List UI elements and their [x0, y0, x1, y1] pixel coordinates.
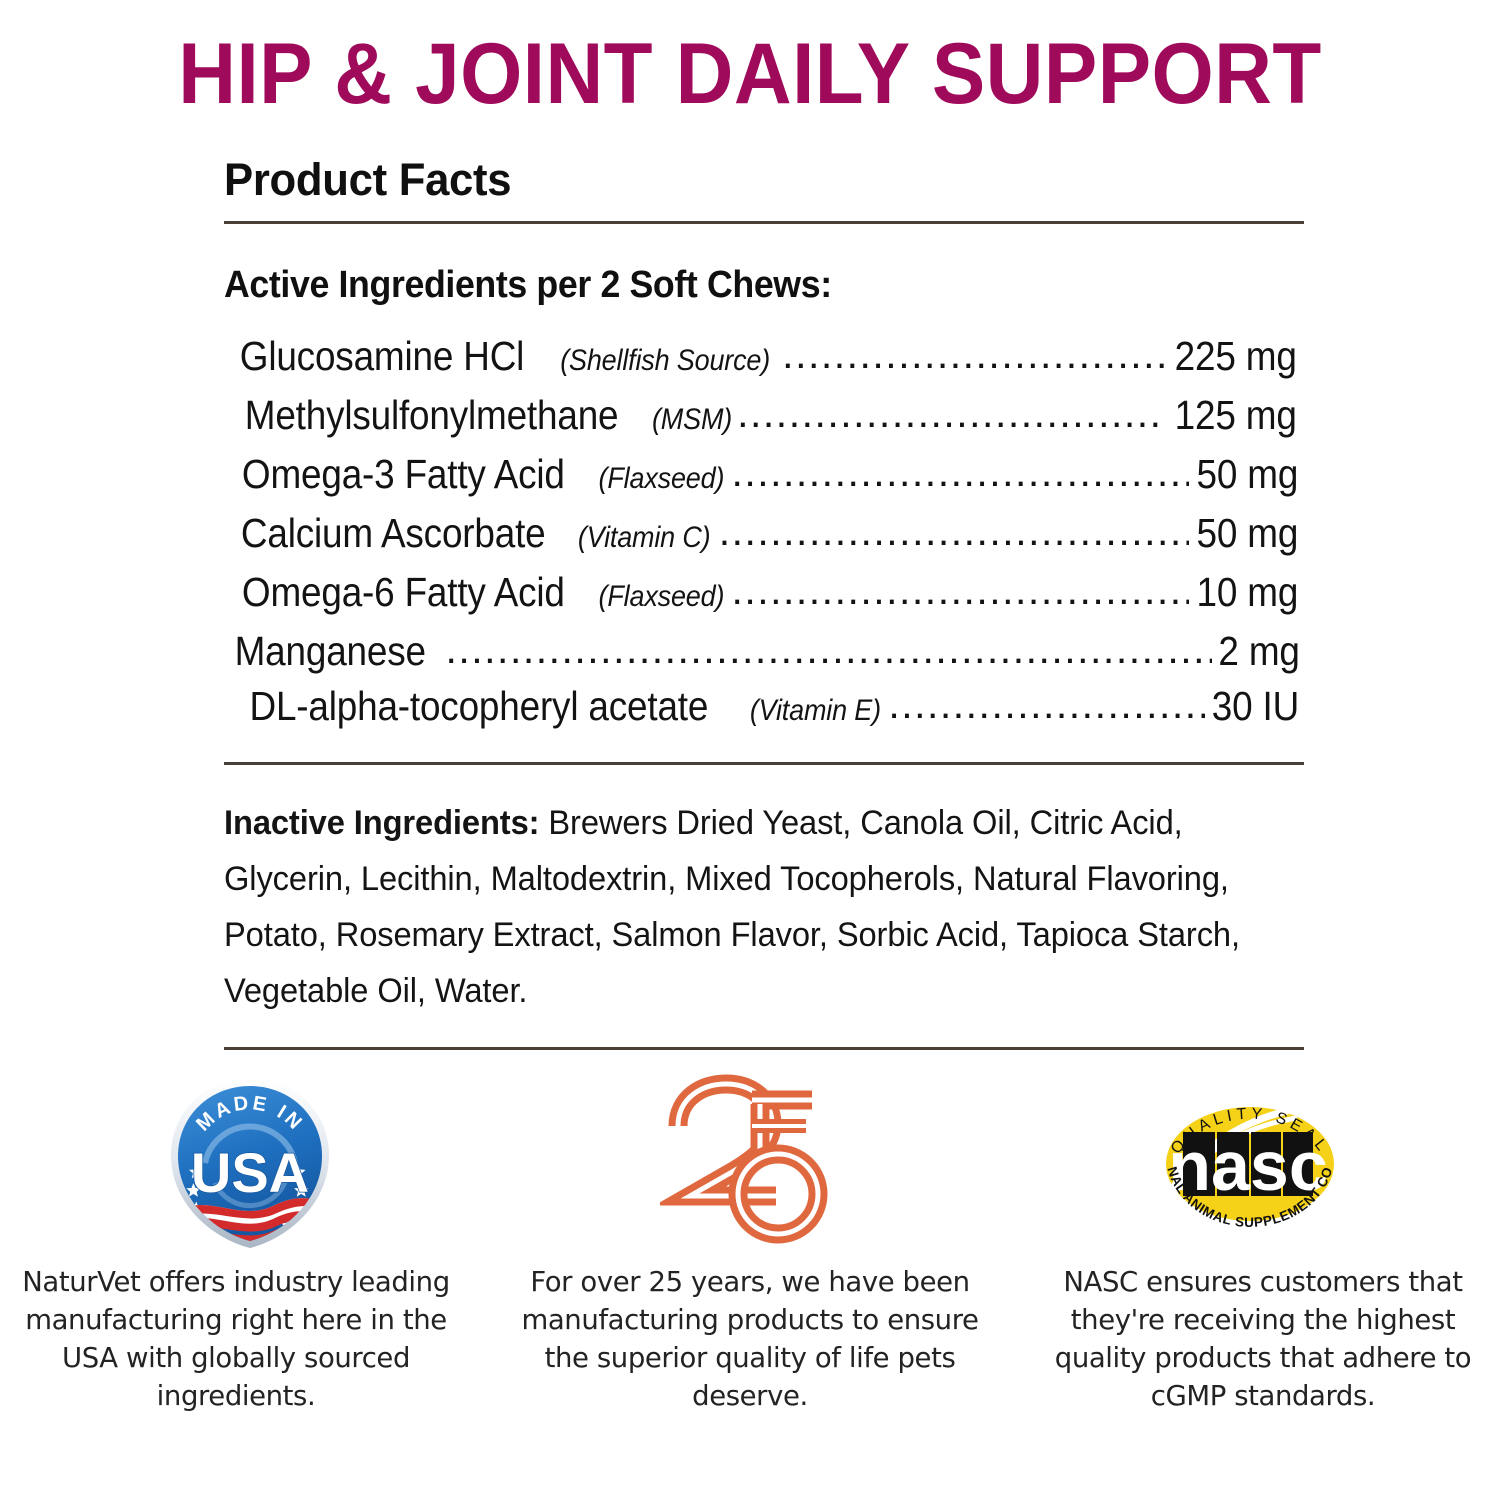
- ingredient-note: (Shellfish Source): [552, 333, 770, 388]
- leader-dots: ........................................…: [737, 388, 1166, 441]
- badges-row: MADE IN: [0, 1074, 1500, 1415]
- ingredient-row: Glucosamine HCl (Shellfish Source) .....…: [224, 329, 1304, 388]
- ingredient-row: Methylsulfonylmethane (MSM) ............…: [224, 388, 1304, 447]
- badge-caption: NASC ensures customers that they're rece…: [1028, 1263, 1498, 1415]
- active-ingredients-heading: Active Ingredients per 2 Soft Chews:: [224, 263, 1239, 307]
- leader-dots: ........................................…: [719, 506, 1189, 559]
- inactive-ingredients-label: Inactive Ingredients:: [224, 804, 539, 842]
- leader-dots: ........................................…: [782, 329, 1166, 382]
- ingredient-note: (Vitamin C): [570, 510, 711, 565]
- ingredient-row: Manganese ..............................…: [224, 624, 1304, 679]
- twenty-five-years-logo-icon: [660, 1074, 840, 1249]
- nasc-quality-seal-icon: nasc QUALITY SEAL NATIONAL ANIMAL SUPPLE…: [1145, 1074, 1355, 1249]
- ingredient-note: (MSM): [644, 392, 732, 447]
- ingredient-name: Calcium Ascorbate: [241, 506, 546, 561]
- ingredient-row: Omega-3 Fatty Acid (Flaxseed) ..........…: [224, 447, 1304, 506]
- ingredient-row: Omega-6 Fatty Acid (Flaxseed) ..........…: [224, 565, 1304, 624]
- leader-dots: ........................................…: [731, 447, 1189, 500]
- leader-dots: ........................................…: [888, 679, 1205, 732]
- ingredient-row: DL-alpha-tocopheryl acetate (Vitamin E) …: [224, 679, 1304, 738]
- inactive-ingredients-paragraph: Inactive Ingredients: Brewers Dried Yeas…: [224, 795, 1261, 1019]
- divider-top: [224, 221, 1304, 224]
- ingredient-name: DL-alpha-tocopheryl acetate: [249, 679, 708, 734]
- divider-bottom: [224, 1047, 1304, 1050]
- ingredient-amount: 125 mg: [1173, 388, 1297, 443]
- ingredient-amount: 30 IU: [1210, 679, 1299, 734]
- active-ingredients-list: Glucosamine HCl (Shellfish Source) .....…: [224, 329, 1304, 738]
- ingredient-amount: 2 mg: [1216, 624, 1299, 679]
- page-title: HIP & JOINT DAILY SUPPORT: [53, 26, 1448, 122]
- ingredient-amount: 10 mg: [1195, 565, 1298, 620]
- badge-made-in-usa: MADE IN: [0, 1074, 500, 1415]
- ingredient-amount: 50 mg: [1195, 506, 1298, 561]
- ingredient-amount: 50 mg: [1195, 447, 1298, 502]
- ingredient-note: (Flaxseed): [590, 451, 724, 506]
- ingredient-name: Methylsulfonylmethane: [245, 388, 619, 443]
- leader-dots: ........................................…: [731, 565, 1189, 618]
- ingredient-note: (Vitamin E): [741, 683, 880, 738]
- made-in-usa-seal-icon: MADE IN: [159, 1074, 341, 1249]
- svg-text:USA: USA: [191, 1141, 309, 1204]
- leader-dots: ........................................…: [445, 624, 1211, 677]
- badge-nasc-seal: nasc QUALITY SEAL NATIONAL ANIMAL SUPPLE…: [1000, 1074, 1500, 1415]
- ingredient-name: Manganese: [235, 624, 426, 679]
- badge-caption: For over 25 years, we have been manufact…: [515, 1263, 985, 1415]
- ingredient-row: Calcium Ascorbate (Vitamin C) ..........…: [224, 506, 1304, 565]
- ingredient-name: Omega-3 Fatty Acid: [242, 447, 565, 502]
- badge-25-years: For over 25 years, we have been manufact…: [500, 1074, 1000, 1415]
- ingredient-name: Glucosamine HCl: [240, 329, 524, 384]
- product-facts-heading: Product Facts: [224, 152, 1272, 208]
- product-facts-panel: Product Facts Active Ingredients per 2 S…: [224, 152, 1304, 1050]
- ingredient-amount: 225 mg: [1173, 329, 1297, 384]
- badge-caption: NaturVet offers industry leading manufac…: [1, 1263, 471, 1415]
- ingredient-note: (Flaxseed): [590, 569, 724, 624]
- ingredient-name: Omega-6 Fatty Acid: [242, 565, 565, 620]
- divider-middle: [224, 762, 1304, 765]
